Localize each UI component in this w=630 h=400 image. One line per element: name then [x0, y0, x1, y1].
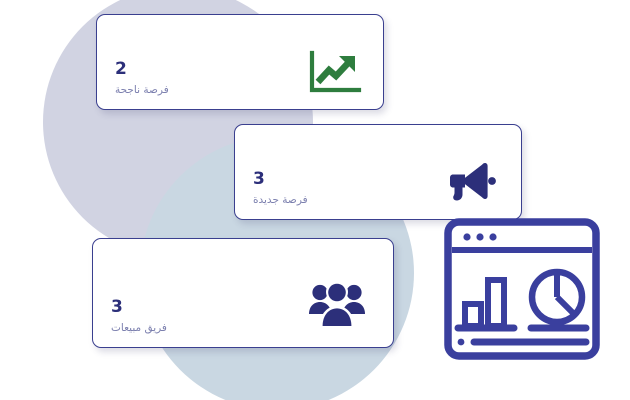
stat-card-label: فرصة جديدة — [253, 194, 308, 207]
megaphone-icon — [441, 159, 497, 205]
stat-card-text-group: 3 فريق مبيعات — [111, 298, 167, 335]
stat-card-value: 3 — [253, 170, 308, 190]
illustration-canvas: 2 فرصة ناجحة 3 فرصة جديدة — [0, 0, 630, 400]
stat-card-text-group: 2 فرصة ناجحة — [115, 60, 169, 97]
stat-card-value: 3 — [111, 298, 167, 318]
stat-card-body: 2 فرصة ناجحة — [97, 15, 383, 109]
stat-card-new-opportunity[interactable]: 3 فرصة جديدة — [234, 124, 522, 220]
stat-card-body: 3 فرصة جديدة — [235, 125, 521, 219]
growth-chart-icon — [305, 49, 363, 97]
window-frame — [448, 222, 596, 356]
stat-card-successful-opportunity[interactable]: 2 فرصة ناجحة — [96, 14, 384, 110]
browser-window-dashboard[interactable] — [444, 218, 600, 360]
stat-card-body: 3 فريق مبيعات — [93, 239, 393, 347]
people-group-icon — [307, 279, 367, 329]
stat-card-value: 2 — [115, 60, 169, 80]
stat-card-text-group: 3 فرصة جديدة — [253, 170, 308, 207]
window-titlebar-dots — [463, 233, 496, 240]
stat-card-label: فرصة ناجحة — [115, 84, 169, 97]
stat-card-label: فريق مبيعات — [111, 322, 167, 335]
stat-card-sales-team[interactable]: 3 فريق مبيعات — [92, 238, 394, 348]
